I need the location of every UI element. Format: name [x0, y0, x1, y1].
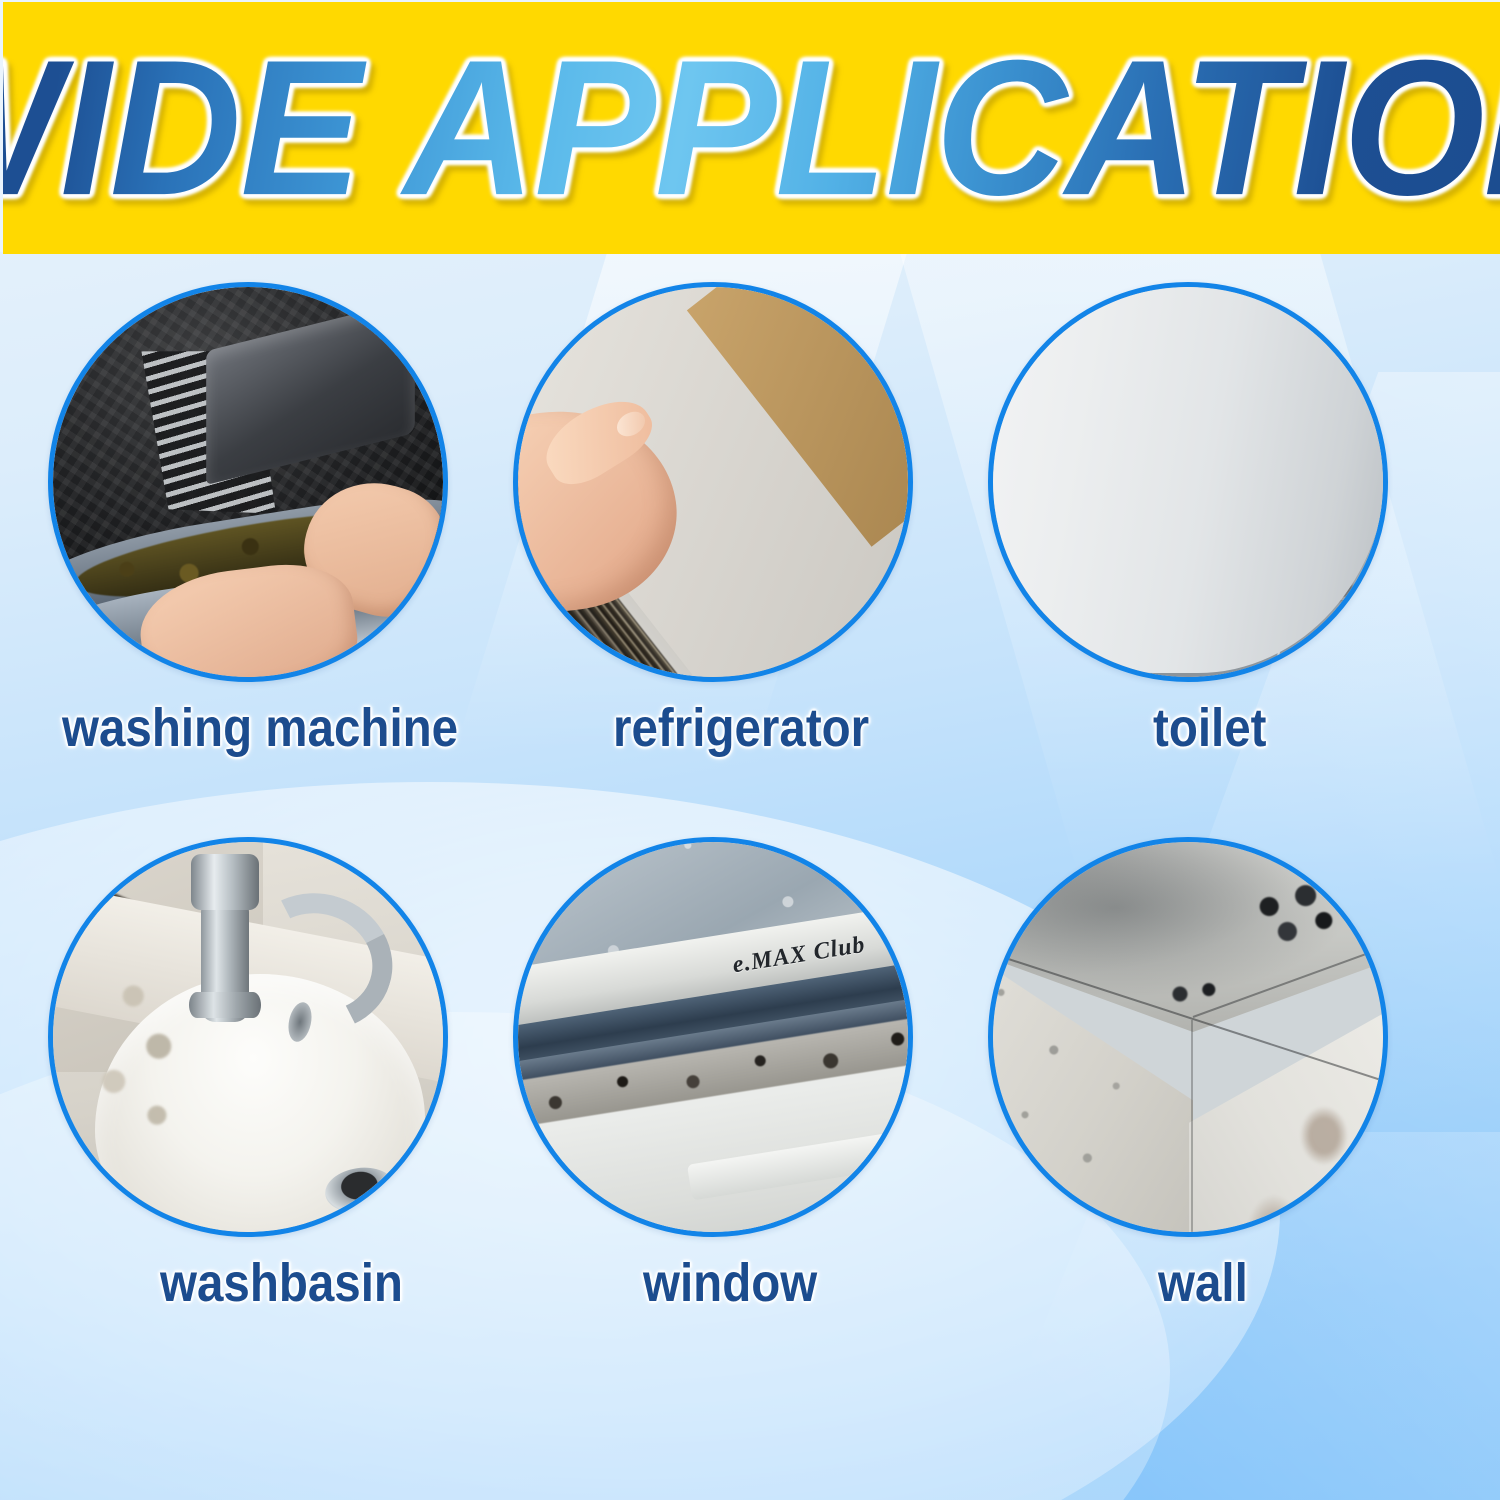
washbasin-faucet-icon: [53, 842, 443, 1232]
application-label-toilet: toilet: [1153, 700, 1413, 757]
application-item-washing-machine[interactable]: washing machine: [48, 282, 508, 757]
toilet-base-icon: [993, 287, 1383, 677]
application-label-window: window: [643, 1255, 933, 1312]
application-label-refrigerator: refrigerator: [613, 700, 930, 757]
application-item-window[interactable]: e.MAX Club window: [513, 837, 973, 1312]
wide-application-poster: WIDE APPLICATION washing machine: [0, 0, 1500, 1500]
application-label-washing-machine: washing machine: [62, 700, 454, 757]
application-grid: washing machine refrigerator: [0, 252, 1500, 1500]
application-item-refrigerator[interactable]: refrigerator: [513, 282, 973, 757]
washing-machine-photo-circle[interactable]: [48, 282, 448, 682]
wall-corner-icon: [993, 842, 1383, 1232]
wall-photo-circle[interactable]: [988, 837, 1388, 1237]
page-title: WIDE APPLICATION: [3, 32, 1500, 225]
header-banner: WIDE APPLICATION: [3, 2, 1500, 254]
refrigerator-door-seal-icon: [518, 287, 908, 677]
refrigerator-photo-circle[interactable]: [513, 282, 913, 682]
toilet-photo-circle[interactable]: [988, 282, 1388, 682]
application-item-washbasin[interactable]: washbasin: [48, 837, 508, 1312]
window-photo-circle[interactable]: e.MAX Club: [513, 837, 913, 1237]
application-item-wall[interactable]: wall: [988, 837, 1448, 1312]
washing-machine-drum-icon: [53, 287, 443, 677]
washbasin-photo-circle[interactable]: [48, 837, 448, 1237]
application-label-wall: wall: [1158, 1255, 1413, 1312]
application-item-toilet[interactable]: toilet: [988, 282, 1448, 757]
application-label-washbasin: washbasin: [160, 1255, 466, 1312]
window-track-icon: e.MAX Club: [518, 842, 908, 1232]
